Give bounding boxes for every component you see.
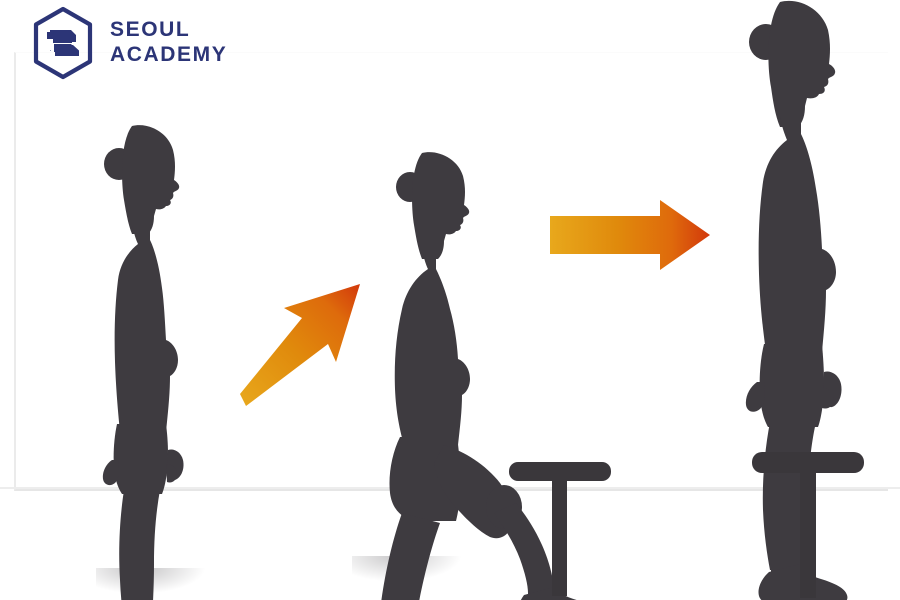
female-silhouette-standing-on-step-icon [730,0,890,500]
brand-logo[interactable]: SEOUL ACADEMY [30,6,227,80]
brand-name-line2: ACADEMY [110,43,227,68]
step-bench-middle-shape [505,458,615,600]
step-bench-icon [505,458,615,600]
illustration-canvas: SEOUL ACADEMY [0,0,900,600]
arrow-up-right-shape [232,278,372,408]
step-bench-right-icon [748,448,868,600]
arrow-right-shape [548,198,713,273]
brand-name: SEOUL ACADEMY [110,18,227,68]
arrow-up-right-icon [232,278,372,408]
brand-name-line1: SEOUL [110,18,227,43]
female-silhouette-standing-icon [88,112,218,582]
figure-standing-on-step [730,0,890,500]
step-bench-right-shape [748,448,868,600]
seoul-academy-hexagon-s-logo-icon [30,6,96,80]
arrow-right-icon [548,198,713,273]
figure-standing-start [88,112,218,582]
